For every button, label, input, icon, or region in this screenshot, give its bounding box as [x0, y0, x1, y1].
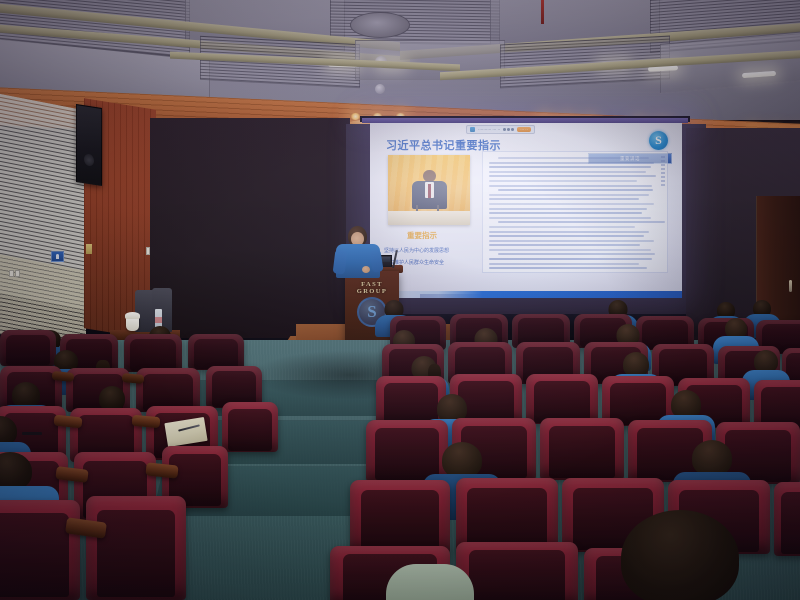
slide-body-line [498, 157, 649, 159]
audience-head [442, 442, 482, 478]
wall-speaker-box [76, 104, 102, 186]
back-wall-left-dark [150, 118, 350, 338]
seat[interactable] [350, 480, 450, 554]
company-logo-icon [649, 131, 668, 150]
seat[interactable] [456, 542, 578, 600]
ceiling-cord [541, 0, 544, 24]
projection-screen: ·········· ··· ·· ··· ·· 习近平总书记重要指示 重要讲话… [370, 123, 682, 298]
slide-body-line [489, 212, 642, 214]
bottle-label [155, 317, 162, 323]
seat[interactable] [222, 402, 278, 452]
slide-subline-1: 坚持以人民为中心的发展思想 [384, 247, 449, 254]
slide-body-line [489, 180, 637, 182]
notification-action-button[interactable]: ··· ·· [517, 127, 531, 132]
accessibility-sign-icon [51, 251, 64, 262]
presenter-hand [362, 266, 370, 273]
seat[interactable] [0, 500, 80, 600]
seat[interactable] [124, 334, 182, 372]
notification-toast[interactable]: ·········· ··· ·· ··· ·· [466, 125, 535, 134]
photo-figure-tie [428, 184, 431, 198]
auditorium-photo: ·········· ··· ·· ··· ·· 习近平总书记重要指示 重要讲话… [0, 0, 800, 600]
seat[interactable] [774, 482, 800, 556]
slide-body-line [489, 231, 649, 233]
seat-armrest [122, 373, 145, 384]
slide-photo [388, 155, 470, 225]
slide-body-line [489, 226, 635, 228]
slide-body-line [489, 235, 644, 237]
door-handle-icon[interactable] [789, 280, 792, 292]
slide-body-line [498, 189, 653, 191]
slide-footer-accent [370, 291, 682, 298]
notification-indicators [503, 128, 514, 131]
ceiling-speaker-icon [350, 12, 410, 38]
ceiling-sensor-icon [375, 84, 385, 94]
power-outlet-icon [15, 270, 20, 277]
slide-body-line [489, 208, 647, 210]
slide-body-line [489, 267, 647, 269]
seat[interactable] [86, 496, 186, 600]
slide-body-text [482, 151, 668, 273]
slide-photo-caption: 重要指示 [407, 230, 437, 241]
notification-text: ·········· ··· ·· [478, 127, 500, 132]
slide-body-line [498, 253, 655, 255]
slide-body-line [489, 272, 592, 273]
seat-armrest [132, 415, 161, 428]
podium-logo-letter: S [367, 302, 376, 322]
audience-head [692, 440, 732, 476]
slide-body-line [489, 240, 654, 242]
slide-body-line [489, 185, 652, 187]
slide-body-line [489, 249, 651, 251]
slide-body-line [489, 217, 651, 219]
slide-body-line [489, 203, 654, 205]
audience-body [386, 564, 474, 600]
slide-body-line [489, 198, 639, 200]
slide-body-lines [489, 157, 661, 273]
slide-body-line [489, 263, 639, 265]
teacup [126, 317, 139, 331]
audience-head [621, 510, 739, 600]
slide-body-line [489, 162, 654, 164]
photo-desk [388, 211, 470, 225]
slide-body-line [489, 194, 649, 196]
app-icon [470, 127, 475, 132]
slide-body-line [498, 221, 665, 223]
seat[interactable] [0, 330, 56, 366]
slide-body-line [489, 166, 651, 168]
slide-body-line [489, 258, 652, 260]
seat[interactable] [526, 374, 598, 424]
slide-body-line [489, 171, 646, 173]
seat[interactable] [540, 418, 624, 480]
teacup-lid [125, 312, 140, 319]
seat[interactable] [366, 420, 448, 482]
seat[interactable] [188, 334, 244, 370]
power-outlet-icon [9, 270, 14, 277]
slide-side-marks [661, 156, 665, 186]
slide-body-line [489, 175, 656, 177]
wall-tag [86, 244, 92, 254]
glasses-icon [22, 432, 42, 435]
podium-brand-text: FAST GROUP [345, 281, 399, 295]
seat[interactable] [456, 478, 558, 552]
slide-body-line [489, 244, 640, 246]
